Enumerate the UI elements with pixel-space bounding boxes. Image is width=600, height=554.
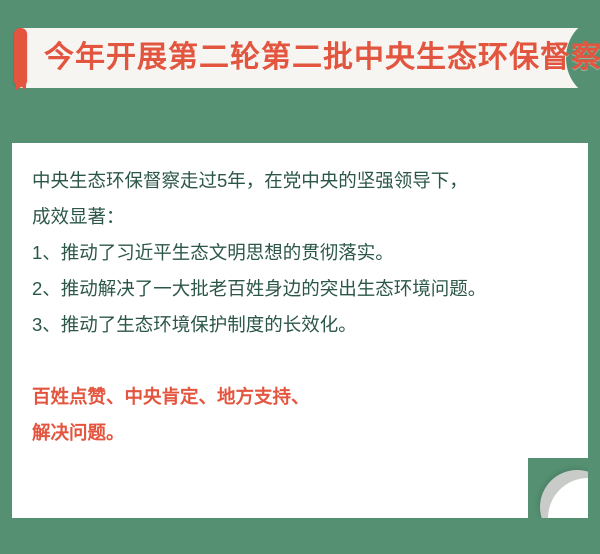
banner: 今年开展第二轮第二批中央生态环保督察 — [0, 28, 600, 88]
list-item: 3、推动了生态环境保护制度的长效化。 — [32, 307, 570, 343]
page-curl-icon — [526, 456, 588, 518]
list-item: 2、推动解决了一大批老百姓身边的突出生态环境问题。 — [32, 271, 570, 307]
page-title: 今年开展第二轮第二批中央生态环保督察 — [44, 28, 600, 88]
highlight-text: 百姓点赞、中央肯定、地方支持、 解决问题。 — [32, 379, 570, 451]
red-scroll-bookmark-icon — [14, 28, 27, 86]
list-item: 1、推动了习近平生态文明思想的贯彻落实。 — [32, 235, 570, 271]
intro-paragraph: 中央生态环保督察走过5年，在党中央的坚强领导下， 成效显著： — [32, 163, 570, 235]
highlight-line-1: 百姓点赞、中央肯定、地方支持、 — [32, 379, 570, 415]
intro-line-2: 成效显著： — [32, 206, 125, 227]
highlight-line-2: 解决问题。 — [32, 415, 570, 451]
page-curl-inner — [548, 478, 588, 518]
card-body: 中央生态环保督察走过5年，在党中央的坚强领导下， 成效显著： 1、推动了习近平生… — [32, 163, 570, 451]
poster-root: 今年开展第二轮第二批中央生态环保督察 中央生态环保督察走过5年，在党中央的坚强领… — [0, 0, 600, 554]
content-card: 中央生态环保督察走过5年，在党中央的坚强领导下， 成效显著： 1、推动了习近平生… — [12, 143, 588, 518]
intro-line-1: 中央生态环保督察走过5年，在党中央的坚强领导下， — [32, 170, 468, 191]
red-scroll-bookmark-tail-icon — [16, 81, 26, 90]
